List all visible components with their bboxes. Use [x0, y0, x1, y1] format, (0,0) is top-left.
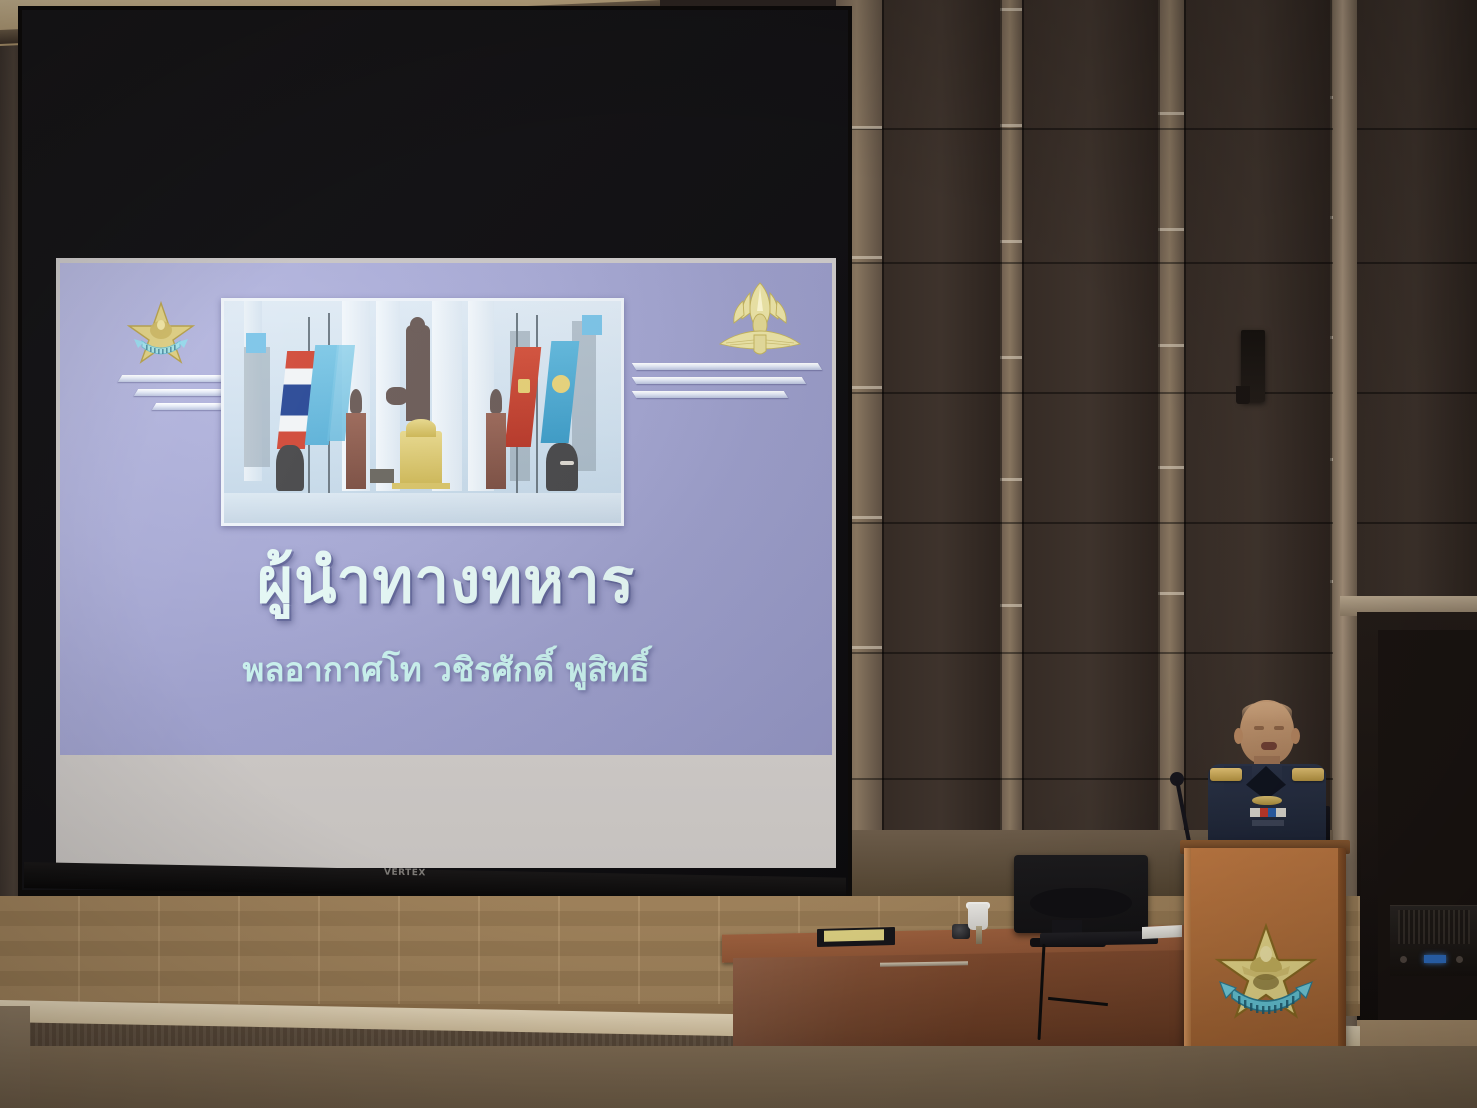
screen-brand-label: VERTEX: [384, 868, 426, 879]
elephant-statue-right: [546, 443, 578, 491]
yellow-notepad: [824, 929, 884, 942]
officer-ear-right: [1291, 728, 1300, 744]
officer-mouth: [1261, 742, 1277, 750]
presenting-officer: [1196, 700, 1336, 852]
golden-throne: [400, 431, 442, 487]
pedestal-right: [486, 413, 506, 489]
monitor-back-curve: [1030, 888, 1132, 918]
floor-left-edge: [0, 1006, 30, 1108]
name-tag: [1252, 820, 1284, 826]
speaker-mount: [1236, 386, 1250, 404]
av-rack-display: [1424, 955, 1446, 963]
elephant-statue-left: [276, 445, 304, 491]
air-force-wings-emblem-icon: [710, 281, 810, 367]
epaulette-right: [1292, 768, 1324, 781]
podium-star-emblem-icon: [1212, 922, 1320, 1026]
auditorium-scene: ผู้นำทางทหาร พลอากาศโท วชิรศักดิ์ พูสิทธ…: [0, 0, 1477, 1108]
hall-floor: [0, 1046, 1477, 1108]
keyboard[interactable]: [1040, 931, 1158, 946]
officer-eye-right: [1274, 726, 1284, 730]
papers-on-desk: [1142, 925, 1182, 939]
slide-photograph: [221, 298, 624, 526]
officer-hairline: [1242, 702, 1292, 722]
epaulette-left: [1210, 768, 1242, 781]
pilot-wings-badge: [1252, 796, 1282, 805]
gold-star-emblem-icon: [126, 299, 196, 365]
officer-eye-left: [1254, 726, 1264, 730]
slide-title: ผู้นำทางทหาร: [60, 550, 832, 612]
pedestal-left: [346, 413, 366, 489]
desk-small-object: [976, 926, 982, 944]
ribbon-bar: [1250, 808, 1286, 817]
projected-slide: ผู้นำทางทหาร พลอากาศโท วชิรศักดิ์ พูสิทธ…: [60, 263, 832, 755]
bronze-statue: [406, 325, 430, 421]
slide-subtitle: พลอากาศโท วชิรศักดิ์ พูสิทธิ์: [60, 653, 832, 686]
av-rack-grill: [1398, 910, 1470, 944]
officer-ear-left: [1234, 728, 1243, 744]
